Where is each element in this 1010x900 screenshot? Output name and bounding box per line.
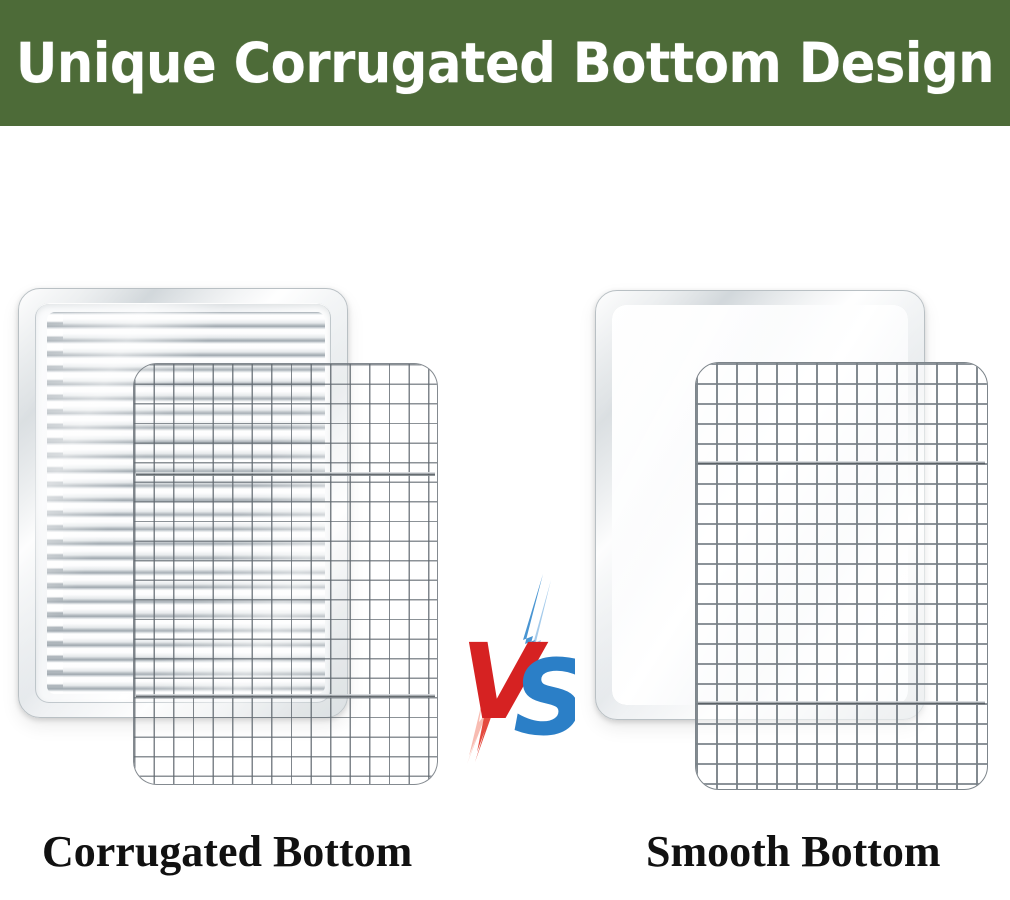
comparison-panel-right [540,126,1010,826]
ridge-end-caps [47,312,63,694]
caption-row: Corrugated Bottom Smooth Bottom [0,826,1010,900]
caption-smooth-bottom: Smooth Bottom [646,826,941,877]
caption-corrugated-bottom: Corrugated Bottom [42,826,412,877]
comparison-panel-left [0,126,470,826]
versus-letter-s: S [513,637,575,759]
header-banner: Unique Corrugated Bottom Design [0,0,1010,126]
rack-reinforcement-bar [698,701,985,705]
cooling-rack-fine-mesh[interactable] [133,363,438,785]
comparison-stage: V S [0,126,1010,826]
cooling-rack-coarse-mesh[interactable] [695,362,988,790]
rack-reinforcement-bar [698,461,985,465]
rack-reinforcement-bar [136,472,435,476]
rack-wire-mesh [134,364,437,784]
rack-reinforcement-bar [136,694,435,698]
versus-emblem: V S [455,566,575,766]
rack-wire-mesh [696,363,987,789]
page-title: Unique Corrugated Bottom Design [16,31,994,95]
